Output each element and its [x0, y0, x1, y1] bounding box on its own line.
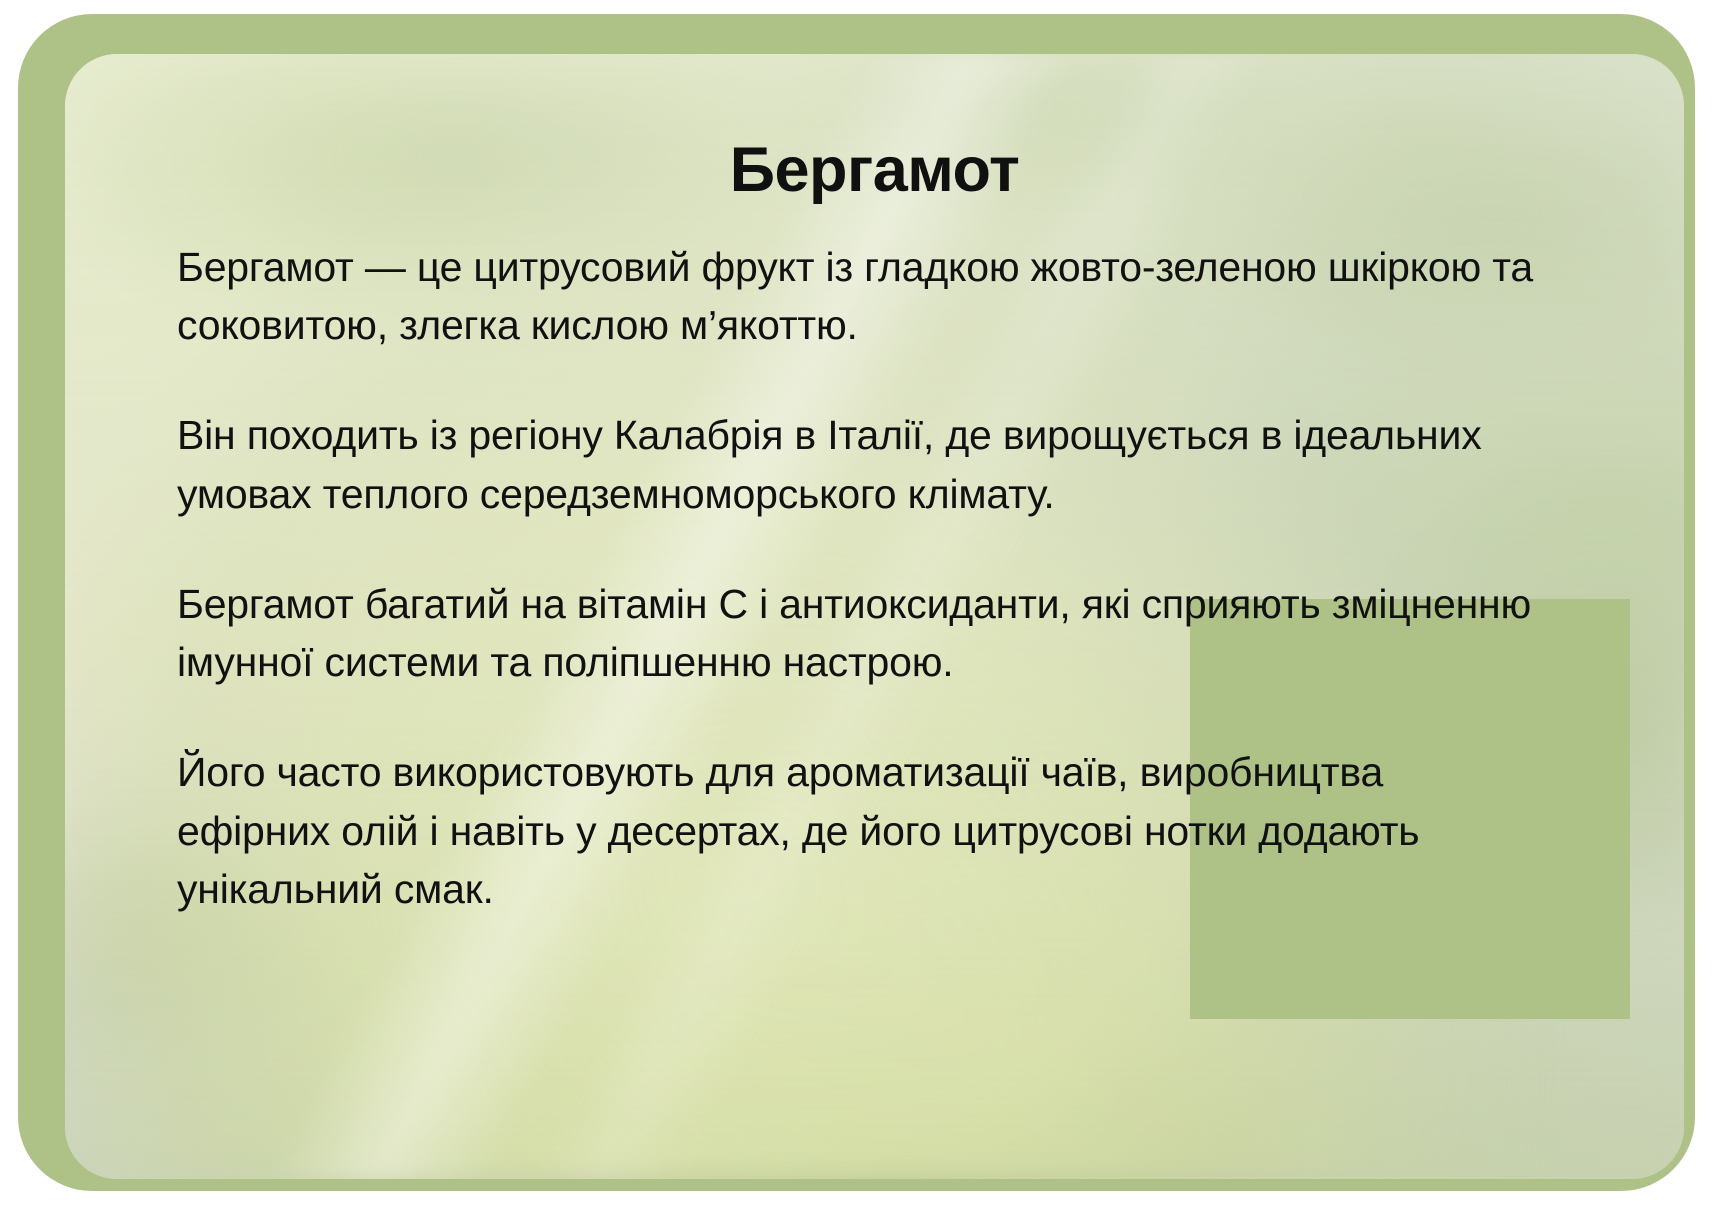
page-title: Бергамот [155, 136, 1594, 204]
paragraph-4: Його часто використовують для ароматизац… [177, 743, 1527, 918]
card-content: Бергамот Бергамот — це цитрусовий фрукт … [65, 54, 1684, 1179]
body-text: Бергамот — це цитрусовий фрукт із гладко… [155, 238, 1594, 918]
photo-card: Бергамот Бергамот — це цитрусовий фрукт … [65, 54, 1684, 1179]
slide-canvas: Бергамот Бергамот — це цитрусовий фрукт … [0, 0, 1713, 1205]
green-card-frame: Бергамот Бергамот — це цитрусовий фрукт … [18, 14, 1695, 1191]
paragraph-1: Бергамот — це цитрусовий фрукт із гладко… [177, 238, 1576, 354]
paragraph-3: Бергамот багатий на вітамін C і антиокси… [177, 575, 1576, 691]
paragraph-2: Він походить із регіону Калабрія в Італі… [177, 406, 1576, 522]
